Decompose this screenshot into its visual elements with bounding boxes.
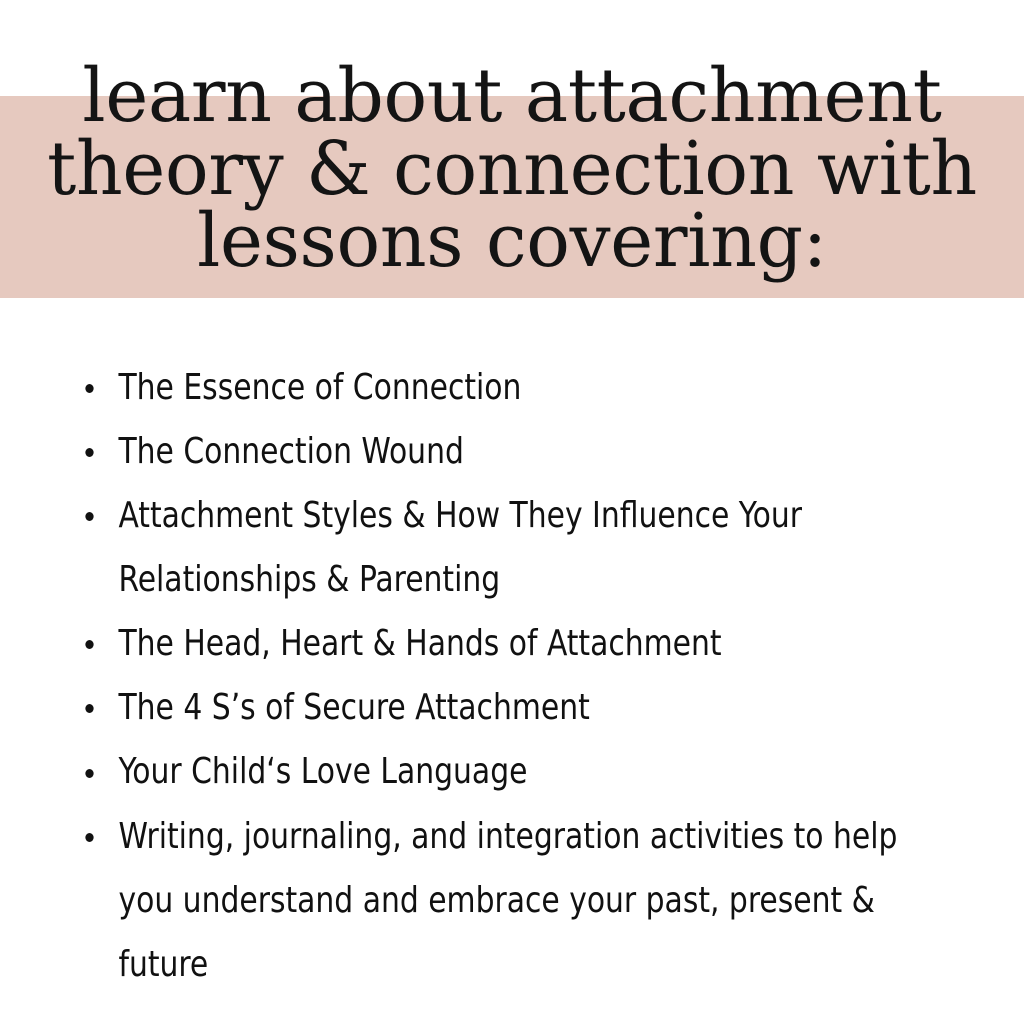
list-item-label: The Head, Heart & Hands of Attachment: [118, 612, 933, 676]
bullet-icon: [85, 512, 93, 521]
list-item: The Essence of Connection: [78, 356, 934, 420]
bullet-icon: [85, 769, 93, 778]
list-item: Writing, journaling, and integration act…: [78, 805, 934, 997]
bullet-icon: [85, 640, 93, 649]
list-item: The 4 S’s of Secure Attachment: [78, 676, 934, 740]
list-item-label: Attachment Styles & How They Influence Y…: [118, 484, 933, 612]
heading-line-2: theory & connection with: [10, 133, 1014, 206]
list-item-label: Writing, journaling, and integration act…: [118, 805, 933, 997]
list-item: Attachment Styles & How They Influence Y…: [78, 484, 934, 612]
bullet-icon: [85, 448, 93, 457]
bullet-icon: [85, 384, 93, 393]
list-item-label: The Essence of Connection: [118, 356, 933, 420]
heading-line-3: lessons covering:: [10, 205, 1014, 278]
bullet-icon: [85, 833, 93, 842]
heading-line-1: learn about attachment: [10, 60, 1014, 133]
list-item-label: The Connection Wound: [118, 420, 933, 484]
lesson-list: The Essence of Connection The Connection…: [78, 356, 1008, 997]
list-item-label: Your Child‘s Love Language: [118, 740, 933, 804]
page-title: learn about attachment theory & connecti…: [0, 60, 1024, 278]
list-item: Your Child‘s Love Language: [78, 740, 934, 804]
list-item: The Head, Heart & Hands of Attachment: [78, 612, 934, 676]
list-item-label: The 4 S’s of Secure Attachment: [118, 676, 933, 740]
promo-graphic: learn about attachment theory & connecti…: [0, 0, 1024, 1024]
list-item: The Connection Wound: [78, 420, 934, 484]
bullet-icon: [85, 704, 93, 713]
